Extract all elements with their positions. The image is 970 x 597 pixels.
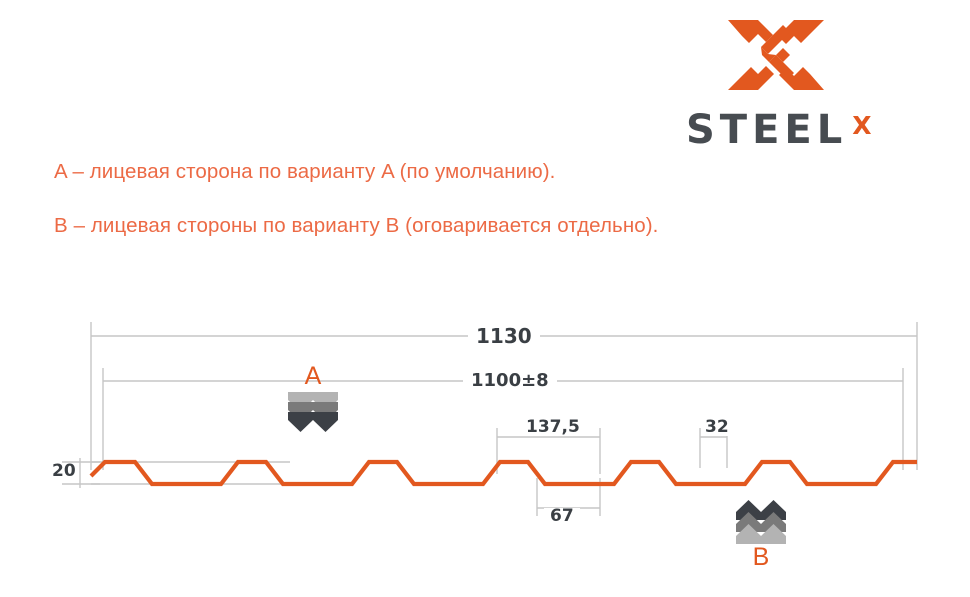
dimension-label-rib-top-width: 32 bbox=[701, 419, 733, 436]
marker-side-b-chevrons bbox=[736, 500, 786, 544]
profile-spec-sheet: STEEL X A – лицевая сторона по варианту … bbox=[0, 0, 970, 597]
extension-lines bbox=[62, 322, 917, 516]
dimension-label-overall-width: 1130 bbox=[468, 326, 540, 346]
marker-letter-a: A bbox=[288, 364, 338, 389]
dimension-label-useful-width: 1100±8 bbox=[463, 372, 557, 390]
dimension-label-rib-height: 20 bbox=[49, 463, 79, 480]
marker-letter-b: B bbox=[736, 545, 786, 570]
dimension-label-valley-width: 67 bbox=[544, 508, 580, 525]
dimension-label-rib-pitch: 137,5 bbox=[520, 419, 586, 436]
marker-side-a-chevrons bbox=[288, 392, 338, 432]
profile-cross-section-drawing bbox=[0, 0, 970, 597]
corrugated-profile-path bbox=[91, 462, 917, 484]
